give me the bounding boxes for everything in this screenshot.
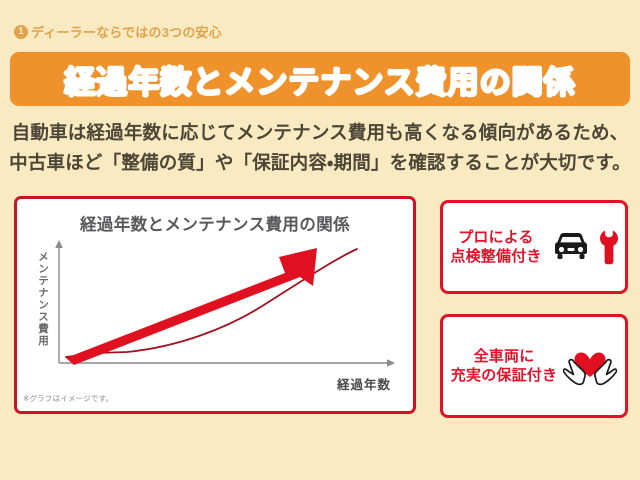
kicker-label: ディーラーならではの3つの安心 (31, 22, 222, 41)
chart-trend-arrow (66, 248, 317, 365)
chart-footnote: ※グラフはイメージです。 (23, 393, 113, 404)
feature-card-warranty[interactable]: 全車両に 充実の保証付き (440, 314, 628, 418)
chart-x-axis-label: 経過年数 (337, 374, 391, 393)
feature-card-warranty-text: 全車両に 充実の保証付き (451, 347, 557, 385)
lede-line-1: 自動車は経過年数に応じてメンテナンス費用も高くなる傾向があるため、 (0, 118, 640, 148)
feature-card-warranty-line-2: 充実の保証付き (451, 366, 557, 385)
feature-card-inspection-line-1: プロによる (450, 228, 541, 247)
kicker: 1 ディーラーならではの3つの安心 (14, 22, 222, 41)
feature-card-inspection-text: プロによる 点検整備付き (450, 228, 541, 266)
chart-panel: 経過年数とメンテナンス費用の関係 メンテナンス費用 経過年数 ※グラフはイメージ… (14, 196, 416, 414)
chart-x-axis-arrowhead (387, 359, 395, 367)
chart-plot-area (17, 237, 413, 387)
kicker-number-badge: 1 (14, 25, 28, 39)
wrench-icon (600, 229, 618, 265)
hands-heart-icon (563, 345, 617, 387)
feature-card-inspection-line-2: 点検整備付き (450, 247, 541, 266)
chart-y-axis-arrowhead (55, 240, 63, 248)
lede-line-2: 中古車ほど「整備の質」や「保証内容・期間」を確認することが大切です。 (0, 148, 640, 178)
headline-title: 経過年数とメンテナンス費用の関係 (64, 57, 575, 102)
car-icon (548, 230, 594, 264)
infographic-canvas: 1 ディーラーならではの3つの安心 経過年数とメンテナンス費用の関係 自動車は経… (0, 0, 640, 480)
feature-card-inspection[interactable]: プロによる 点検整備付き (440, 200, 628, 294)
headline-banner: 経過年数とメンテナンス費用の関係 (10, 52, 630, 106)
chart-title: 経過年数とメンテナンス費用の関係 (17, 211, 413, 235)
feature-card-warranty-line-1: 全車両に (451, 347, 557, 366)
lede-paragraph: 自動車は経過年数に応じてメンテナンス費用も高くなる傾向があるため、 中古車ほど「… (0, 118, 640, 178)
